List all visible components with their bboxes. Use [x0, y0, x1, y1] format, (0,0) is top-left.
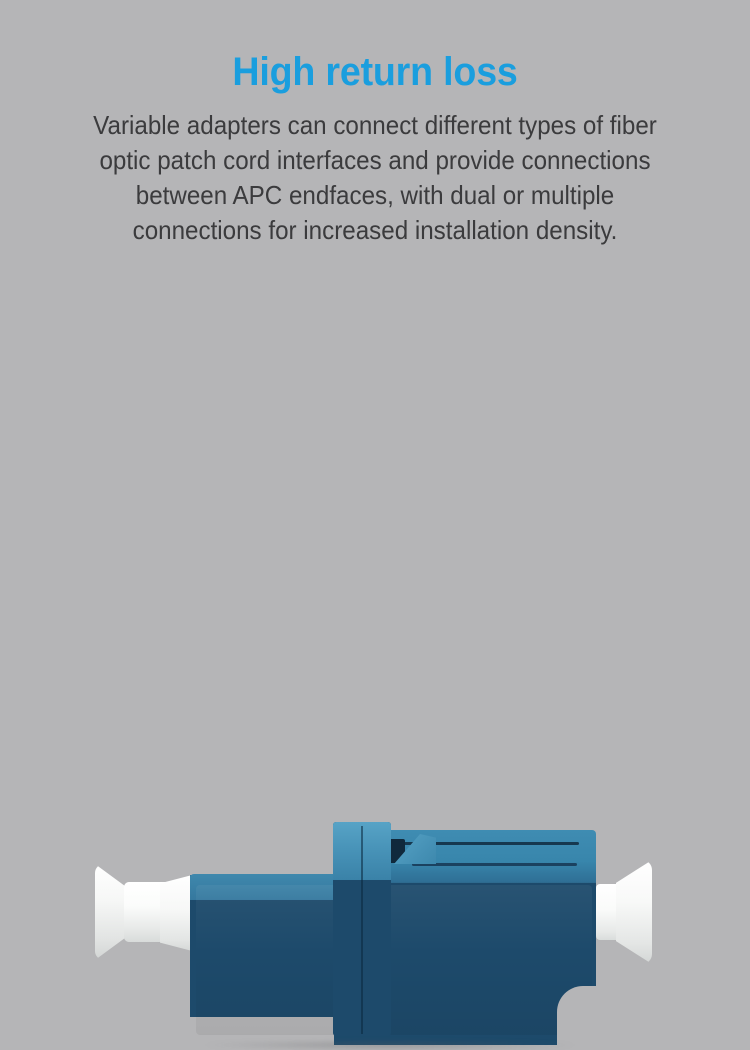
description-line-4: connections for increased installation d…: [26, 213, 724, 248]
latch-slot-lower: [412, 863, 577, 866]
text-block: High return loss Variable adapters can c…: [0, 0, 750, 248]
product-contact-shadow: [205, 1040, 575, 1050]
product-feature-panel: High return loss Variable adapters can c…: [0, 0, 750, 750]
description-line-3: between APC endfaces, with dual or multi…: [26, 178, 724, 213]
body-corner-notch: [557, 986, 599, 1048]
mounting-flange-seam: [361, 826, 363, 1034]
adapter-body-left-step: [190, 847, 335, 875]
product-photo: [0, 390, 750, 720]
adapter-body-sheen: [196, 885, 592, 1035]
description-line-2: optic patch cord interfaces and provide …: [26, 143, 724, 178]
white-dust-cap-right-flare: [616, 860, 652, 964]
description-paragraph: Variable adapters can connect different …: [26, 94, 724, 248]
description-line-1: Variable adapters can connect different …: [26, 108, 724, 143]
page-title: High return loss: [23, 0, 728, 94]
